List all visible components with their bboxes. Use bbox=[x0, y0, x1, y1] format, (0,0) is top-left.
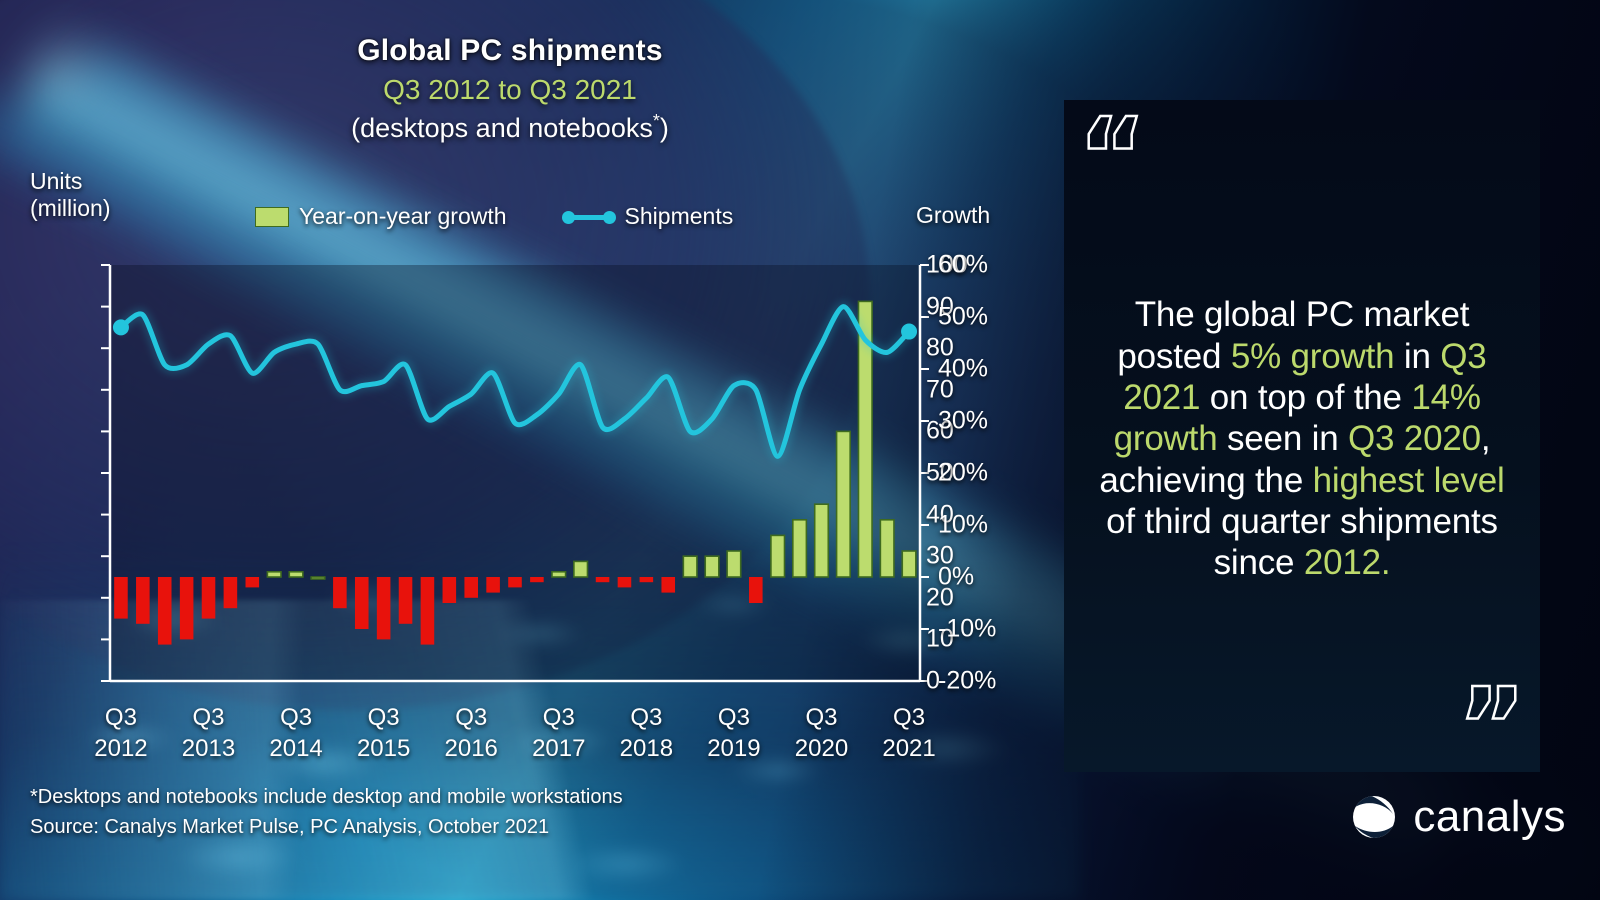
x-axis-tick-quarter: Q3 bbox=[795, 703, 848, 734]
x-axis-tick-quarter: Q3 bbox=[182, 703, 235, 734]
growth-bar[interactable] bbox=[486, 577, 500, 593]
growth-bar[interactable] bbox=[333, 577, 347, 608]
x-axis-tick-label: Q32021 bbox=[882, 703, 935, 764]
growth-bar[interactable] bbox=[136, 577, 150, 624]
growth-bar[interactable] bbox=[618, 577, 632, 587]
growth-bar[interactable] bbox=[793, 520, 807, 577]
x-axis-tick-label: Q32014 bbox=[269, 703, 322, 764]
legend-line-dot-right-icon bbox=[603, 211, 616, 224]
growth-bar[interactable] bbox=[202, 577, 216, 619]
growth-bar[interactable] bbox=[837, 431, 851, 577]
title-scope-asterisk: * bbox=[653, 111, 660, 131]
x-axis-tick-year: 2014 bbox=[269, 734, 322, 765]
x-axis-tick-label: Q32019 bbox=[707, 703, 760, 764]
title-scope-text: (desktops and notebooks bbox=[351, 113, 653, 143]
growth-bar[interactable] bbox=[377, 577, 391, 639]
canalys-swoosh-icon bbox=[1349, 792, 1399, 842]
x-axis-tick-quarter: Q3 bbox=[620, 703, 673, 734]
y2-axis-tick-label: -20% bbox=[938, 667, 996, 696]
title-scope-close: ) bbox=[660, 113, 669, 143]
growth-bar[interactable] bbox=[443, 577, 457, 603]
growth-bar[interactable] bbox=[640, 577, 654, 582]
growth-bar[interactable] bbox=[508, 577, 522, 587]
canalys-wordmark: canalys bbox=[1413, 792, 1566, 842]
title-period: Q3 2012 to Q3 2021 bbox=[0, 74, 1020, 106]
page-title: Global PC shipments bbox=[0, 34, 1020, 68]
canalys-logo: canalys bbox=[1349, 792, 1566, 842]
x-axis-tick-quarter: Q3 bbox=[707, 703, 760, 734]
y2-axis-tick-label: 50% bbox=[938, 303, 988, 332]
growth-bar[interactable] bbox=[552, 572, 566, 577]
y2-axis-tick-label: 40% bbox=[938, 355, 988, 384]
legend-label-shipments: Shipments bbox=[625, 203, 734, 230]
footnote-definition: *Desktops and notebooks include desktop … bbox=[30, 786, 623, 809]
growth-bar[interactable] bbox=[530, 577, 544, 582]
growth-bar[interactable] bbox=[902, 551, 916, 577]
growth-bar[interactable] bbox=[705, 556, 719, 577]
y2-axis-tick-label: 0% bbox=[938, 563, 974, 592]
growth-bar[interactable] bbox=[355, 577, 369, 629]
x-axis-tick-quarter: Q3 bbox=[94, 703, 147, 734]
growth-bar[interactable] bbox=[180, 577, 194, 639]
legend-line-dot-left-icon bbox=[562, 211, 575, 224]
quote-text: The global PC market posted 5% growth in… bbox=[1086, 294, 1518, 583]
left-axis-caption: Units (million) bbox=[30, 168, 111, 222]
x-axis-tick-quarter: Q3 bbox=[882, 703, 935, 734]
left-axis-caption-line2: (million) bbox=[30, 195, 111, 222]
right-axis-caption: Growth bbox=[916, 202, 990, 229]
quote-segment-11: 2012. bbox=[1304, 543, 1391, 582]
chart-legend: Year-on-year growth Shipments bbox=[255, 203, 733, 230]
x-axis-tick-label: Q32015 bbox=[357, 703, 410, 764]
y2-axis-tick-label: 10% bbox=[938, 511, 988, 540]
growth-bar[interactable] bbox=[815, 504, 829, 577]
shipments-endpoint-marker[interactable] bbox=[113, 319, 129, 335]
x-axis-tick-label: Q32013 bbox=[182, 703, 235, 764]
x-axis-tick-label: Q32020 bbox=[795, 703, 848, 764]
x-axis-tick-year: 2020 bbox=[795, 734, 848, 765]
y2-axis-tick-label: 60% bbox=[938, 251, 988, 280]
legend-line-icon bbox=[563, 207, 615, 227]
growth-bar[interactable] bbox=[596, 577, 610, 582]
x-axis-tick-year: 2015 bbox=[357, 734, 410, 765]
growth-bar[interactable] bbox=[421, 577, 435, 645]
quote-segment-6: seen in bbox=[1217, 419, 1348, 458]
growth-bar[interactable] bbox=[158, 577, 172, 645]
y2-axis-tick-label: -10% bbox=[938, 615, 996, 644]
x-axis-tick-year: 2018 bbox=[620, 734, 673, 765]
plot-area-background bbox=[110, 265, 920, 681]
quote-segment-9: highest level bbox=[1313, 461, 1505, 500]
growth-bar[interactable] bbox=[574, 561, 588, 577]
growth-bar[interactable] bbox=[399, 577, 413, 624]
x-axis-tick-quarter: Q3 bbox=[357, 703, 410, 734]
quote-close-mark-icon: ” bbox=[1458, 674, 1526, 778]
y2-axis-tick-label: 30% bbox=[938, 407, 988, 436]
growth-bar[interactable] bbox=[771, 535, 785, 577]
quote-segment-2: in bbox=[1394, 337, 1440, 376]
growth-bar[interactable] bbox=[683, 556, 697, 577]
quote-segment-7: Q3 2020 bbox=[1348, 419, 1481, 458]
growth-bar[interactable] bbox=[311, 577, 325, 579]
footnote-source: Source: Canalys Market Pulse, PC Analysi… bbox=[30, 816, 549, 839]
x-axis-tick-year: 2012 bbox=[94, 734, 147, 765]
growth-bar[interactable] bbox=[749, 577, 763, 603]
legend-label-growth: Year-on-year growth bbox=[299, 203, 507, 230]
legend-item-growth[interactable]: Year-on-year growth bbox=[255, 203, 507, 230]
legend-swatch-icon bbox=[255, 207, 289, 227]
x-axis-tick-label: Q32012 bbox=[94, 703, 147, 764]
title-block: Global PC shipments Q3 2012 to Q3 2021 (… bbox=[0, 34, 1020, 144]
x-axis-tick-year: 2021 bbox=[882, 734, 935, 765]
x-axis-tick-label: Q32017 bbox=[532, 703, 585, 764]
x-axis-tick-year: 2019 bbox=[707, 734, 760, 765]
growth-bar[interactable] bbox=[246, 577, 260, 587]
quote-segment-10: of third quarter shipments since bbox=[1106, 502, 1498, 582]
shipments-endpoint-marker[interactable] bbox=[901, 324, 917, 340]
growth-bar[interactable] bbox=[289, 572, 303, 577]
x-axis-tick-year: 2016 bbox=[445, 734, 498, 765]
legend-item-shipments[interactable]: Shipments bbox=[563, 203, 734, 230]
x-axis-tick-year: 2013 bbox=[182, 734, 235, 765]
x-axis-tick-quarter: Q3 bbox=[532, 703, 585, 734]
x-axis-tick-year: 2017 bbox=[532, 734, 585, 765]
quote-segment-4: on top of the bbox=[1200, 378, 1411, 417]
quote-open-mark-icon: “ bbox=[1078, 104, 1146, 208]
left-axis-caption-line1: Units bbox=[30, 168, 111, 195]
x-axis-tick-quarter: Q3 bbox=[445, 703, 498, 734]
growth-bar[interactable] bbox=[224, 577, 238, 608]
growth-bar[interactable] bbox=[114, 577, 128, 619]
growth-bar[interactable] bbox=[464, 577, 478, 598]
quote-card: “ The global PC market posted 5% growth … bbox=[1064, 100, 1540, 772]
x-axis-tick-quarter: Q3 bbox=[269, 703, 322, 734]
x-axis-tick-label: Q32018 bbox=[620, 703, 673, 764]
title-scope: (desktops and notebooks*) bbox=[0, 111, 1020, 144]
y2-axis-tick-label: 20% bbox=[938, 459, 988, 488]
growth-bar[interactable] bbox=[880, 520, 894, 577]
growth-bar[interactable] bbox=[661, 577, 675, 593]
growth-bar[interactable] bbox=[727, 551, 741, 577]
x-axis-tick-label: Q32016 bbox=[445, 703, 498, 764]
quote-segment-1: 5% growth bbox=[1231, 337, 1395, 376]
growth-bar[interactable] bbox=[267, 572, 281, 577]
